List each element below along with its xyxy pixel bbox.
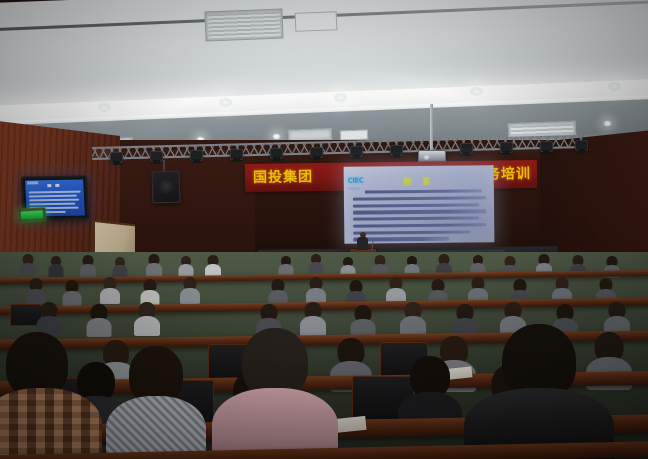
vent-slats <box>208 12 281 39</box>
stage-light-7 <box>350 146 363 157</box>
stage-light-3 <box>190 150 203 161</box>
attendee <box>36 302 61 334</box>
stage-light-11 <box>540 141 553 152</box>
attendee-torso <box>80 264 96 277</box>
attendee <box>178 256 193 276</box>
attendee-torso <box>106 396 206 459</box>
stage-light-12 <box>575 140 588 151</box>
stage-light-9 <box>460 143 473 154</box>
slide-text-line <box>353 203 479 208</box>
downlight-1 <box>98 103 111 112</box>
vent-slats <box>511 124 573 135</box>
attendee <box>48 256 63 276</box>
downlight-5 <box>608 82 621 91</box>
downlight-2 <box>219 98 232 107</box>
stage-light-5 <box>270 148 283 159</box>
ceiling-access-panel <box>295 11 338 32</box>
attendee <box>20 254 36 274</box>
attendee-patterned-sweater <box>0 332 102 459</box>
stage-light-2 <box>150 151 163 162</box>
attendee <box>205 255 221 275</box>
attendee-torso <box>62 291 81 306</box>
slide-title: 前 言 <box>344 175 494 188</box>
slide-text-line <box>353 230 470 234</box>
attendee <box>146 254 162 275</box>
attendee <box>112 257 127 277</box>
attendee <box>180 277 200 303</box>
stage-light-8 <box>390 145 403 156</box>
attendee-torso <box>100 288 120 304</box>
attendee <box>306 277 326 303</box>
hvac-vent-center <box>204 9 283 42</box>
slide-text-line <box>353 210 486 215</box>
banner-left-text: 国投集团 <box>253 166 313 187</box>
projector-lens <box>423 154 430 160</box>
auditorium-photo: 国投集团 业务培训 CIEC 中国国投 前 言 <box>0 0 648 459</box>
downlight-4 <box>470 87 483 96</box>
attendee <box>100 277 120 303</box>
slide-text-line <box>365 189 482 193</box>
attendee <box>140 279 159 304</box>
monitor-title-marks <box>47 184 51 187</box>
slide-text-line <box>353 216 479 221</box>
attendee <box>268 279 287 304</box>
attendee <box>134 302 160 335</box>
exit-sign-glow <box>21 210 43 219</box>
stage-light-4 <box>230 149 243 160</box>
attendee-torso <box>48 264 63 277</box>
attendee <box>386 277 406 303</box>
attendee-torso <box>20 263 36 276</box>
stage-light-1 <box>110 152 123 163</box>
attendee <box>62 280 81 305</box>
exit-sign <box>18 207 47 222</box>
downlight-3 <box>334 93 347 102</box>
attendee <box>350 305 375 337</box>
stage-light-6 <box>310 147 323 158</box>
stage-light-10 <box>500 142 513 153</box>
slide-body <box>353 189 487 243</box>
slide-text-line <box>353 196 486 201</box>
presenter <box>357 232 368 250</box>
slide-text-line <box>353 223 486 228</box>
wall-loudspeaker <box>151 171 180 204</box>
attendee-torso <box>134 316 160 336</box>
attendee-ponytail-check-shirt <box>106 346 206 459</box>
attendee <box>308 254 323 275</box>
presenter-body <box>357 237 368 250</box>
monitor-header-bar <box>27 181 38 184</box>
attendee-torso <box>146 263 162 276</box>
attendee <box>80 255 96 276</box>
attendee <box>400 302 426 335</box>
downlight-8 <box>603 120 612 127</box>
attendee <box>278 256 293 276</box>
attendee-black-leather-jacket <box>464 324 614 459</box>
attendee-pink-shirt <box>212 328 338 459</box>
downlight-7 <box>272 133 281 140</box>
audience-area <box>0 252 648 459</box>
projector-drop-pole <box>430 104 433 152</box>
ceiling-panel-right <box>340 129 368 140</box>
attendee-torso <box>180 288 200 304</box>
attendee-torso <box>0 388 102 459</box>
attendee <box>26 278 45 303</box>
